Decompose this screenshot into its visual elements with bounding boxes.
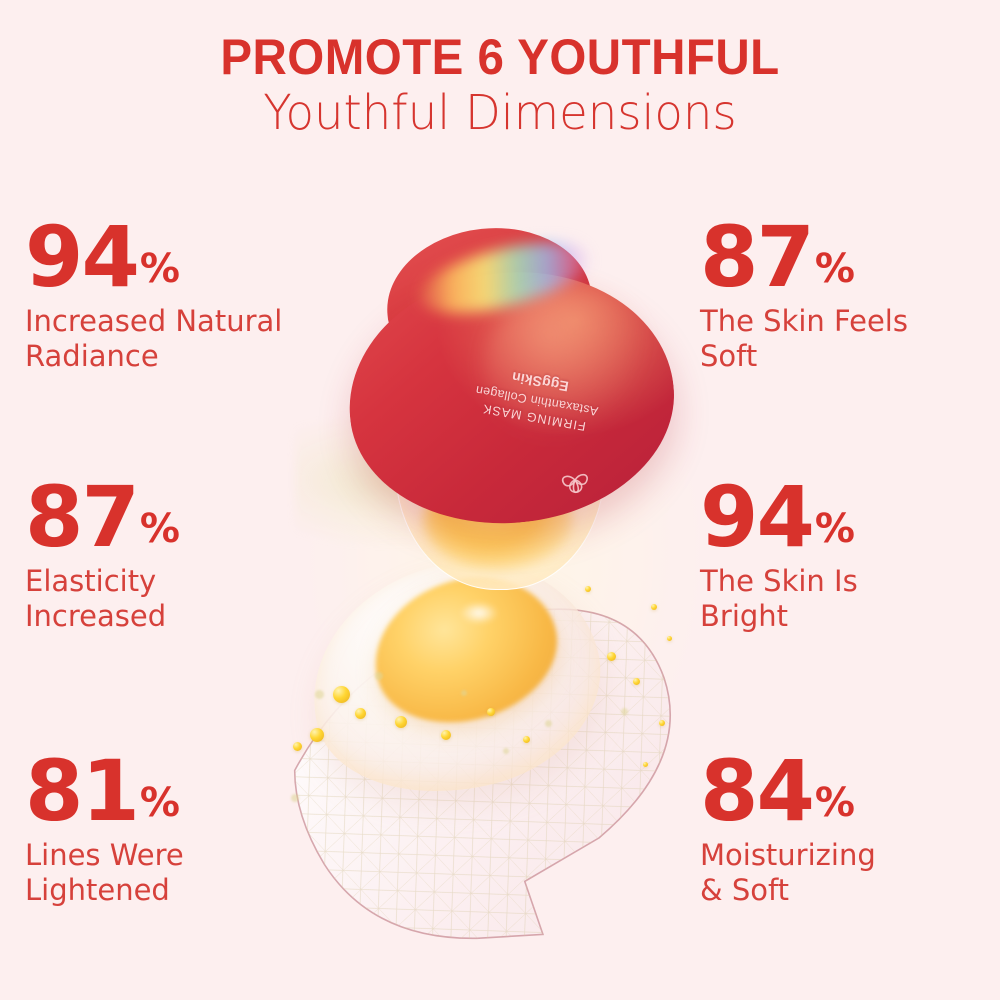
- stat-number-group: 87%: [25, 478, 365, 558]
- stat-label: Elasticity Increased: [25, 564, 365, 634]
- stat-value: 87: [700, 218, 813, 298]
- stat-number-group: 84%: [700, 752, 1000, 832]
- stat-number-group: 94%: [25, 218, 365, 298]
- stat-label: Increased Natural Radiance: [25, 304, 365, 374]
- clover-logo-icon: [553, 458, 597, 502]
- stat-number-group: 94%: [700, 478, 1000, 558]
- stat-unit: %: [140, 246, 180, 292]
- stat-value: 94: [25, 218, 138, 298]
- stat-moisturizing-and-soft: 84% Moisturizing & Soft: [700, 752, 1000, 907]
- heading-line-2: Youthful Dimensions: [15, 86, 985, 141]
- stat-the-skin-feels-soft: 87% The Skin Feels Soft: [700, 218, 1000, 373]
- stat-value: 94: [700, 478, 813, 558]
- stat-unit: %: [815, 246, 855, 292]
- stat-value: 87: [25, 478, 138, 558]
- stat-label: The Skin Feels Soft: [700, 304, 1000, 374]
- product-lid: FIRMING MASK Astaxanthin Collagen EggSki…: [320, 208, 696, 552]
- stat-number-group: 87%: [700, 218, 1000, 298]
- stat-elasticity-increased: 87% Elasticity Increased: [25, 478, 365, 633]
- stat-lines-were-lightened: 81% Lines Were Lightened: [25, 752, 365, 907]
- stat-number-group: 81%: [25, 752, 365, 832]
- stat-label: Moisturizing & Soft: [700, 838, 1000, 908]
- stat-value: 81: [25, 752, 138, 832]
- stat-label: The Skin Is Bright: [700, 564, 1000, 634]
- promo-poster: PROMOTE 6 YOUTHFUL Youthful Dimensions: [0, 0, 1000, 1000]
- stat-value: 84: [700, 752, 813, 832]
- stat-unit: %: [815, 780, 855, 826]
- stat-unit: %: [140, 780, 180, 826]
- stat-unit: %: [140, 506, 180, 552]
- stat-the-skin-is-bright: 94% The Skin Is Bright: [700, 478, 1000, 633]
- poster-heading: PROMOTE 6 YOUTHFUL Youthful Dimensions: [0, 30, 1000, 141]
- heading-line-1: PROMOTE 6 YOUTHFUL: [25, 30, 975, 84]
- stat-increased-natural-radiance: 94% Increased Natural Radiance: [25, 218, 365, 373]
- stat-label: Lines Were Lightened: [25, 838, 365, 908]
- stat-unit: %: [815, 506, 855, 552]
